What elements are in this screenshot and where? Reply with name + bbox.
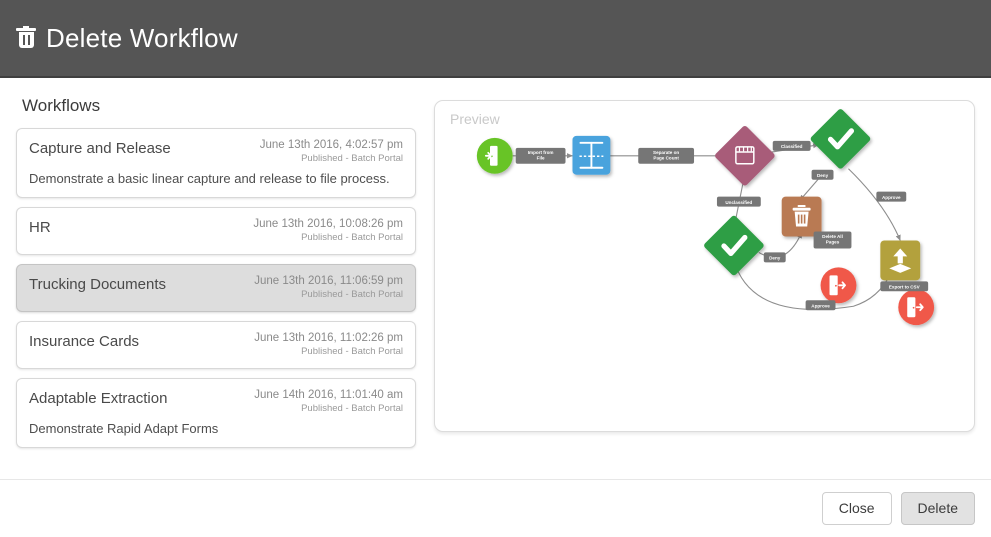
svg-text:Unclassified: Unclassified (725, 200, 752, 205)
edge-label-import-from-file: Import fromFile (516, 148, 566, 164)
workflow-date: June 13th 2016, 11:02:26 pm (254, 331, 403, 345)
svg-text:Classified: Classified (781, 144, 803, 149)
edge-label-deny-2: Deny (764, 252, 786, 262)
list-item-row: Insurance Cards June 13th 2016, 11:02:26… (29, 331, 403, 358)
workflow-meta: June 13th 2016, 11:06:59 pm Published - … (244, 274, 403, 301)
workflow-diagram[interactable]: Import fromFile Separate onPage Count Cl… (435, 101, 974, 432)
workflow-date: June 13th 2016, 4:02:57 pm (260, 138, 403, 152)
svg-text:Export to CSV: Export to CSV (889, 285, 921, 290)
dialog-body: Workflows Capture and Release June 13th … (0, 78, 991, 479)
status-badge: Published - Batch Portal (253, 231, 403, 244)
workflow-date: June 14th 2016, 11:01:40 am (254, 388, 403, 402)
status-badge: Published - Batch Portal (254, 345, 403, 358)
workflows-heading: Workflows (22, 96, 416, 116)
edge-label-delete-all-pages: Delete AllPages (814, 232, 852, 249)
node-verify-unclassified[interactable] (703, 214, 765, 276)
list-item[interactable]: Insurance Cards June 13th 2016, 11:02:26… (16, 321, 416, 369)
node-classifier[interactable] (714, 125, 776, 187)
node-export-to-csv[interactable] (880, 240, 920, 280)
edge-label-approve-1: Approve (876, 192, 906, 202)
workflows-panel: Workflows Capture and Release June 13th … (16, 94, 416, 479)
list-item[interactable]: Adaptable Extraction June 14th 2016, 11:… (16, 378, 416, 448)
status-badge: Published - Batch Portal (260, 152, 403, 165)
node-page-separator[interactable] (572, 136, 610, 175)
edge-label-classified: Classified (773, 141, 811, 151)
dialog-header: Delete Workflow (0, 0, 991, 78)
workflow-name: Adaptable Extraction (29, 388, 167, 408)
svg-text:Approve: Approve (811, 303, 830, 308)
workflow-meta: June 13th 2016, 10:08:26 pm Published - … (243, 217, 403, 244)
page-title: Delete Workflow (16, 23, 238, 54)
workflow-description: Demonstrate Rapid Adapt Forms (29, 421, 403, 437)
status-badge: Published - Batch Portal (254, 288, 403, 301)
svg-text:Approve: Approve (882, 195, 901, 200)
workflow-name: Trucking Documents (29, 274, 166, 294)
workflow-list: Capture and Release June 13th 2016, 4:02… (16, 128, 416, 448)
workflow-name: HR (29, 217, 51, 237)
list-item[interactable]: Capture and Release June 13th 2016, 4:02… (16, 128, 416, 198)
svg-text:Separate onPage Count: Separate onPage Count (653, 150, 679, 160)
list-item-row: HR June 13th 2016, 10:08:26 pm Published… (29, 217, 403, 244)
workflow-name: Capture and Release (29, 138, 171, 158)
edge-label-unclassified: Unclassified (717, 197, 761, 207)
node-verify-classified[interactable] (809, 108, 871, 170)
list-item-row: Trucking Documents June 13th 2016, 11:06… (29, 274, 403, 301)
delete-button[interactable]: Delete (901, 492, 975, 525)
node-delete-all-pages[interactable] (782, 197, 822, 237)
workflow-meta: June 14th 2016, 11:01:40 am Published - … (244, 388, 403, 415)
svg-text:Deny: Deny (769, 256, 781, 261)
edge-label-deny-1: Deny (812, 170, 834, 180)
workflow-meta: June 13th 2016, 11:02:26 pm Published - … (244, 331, 403, 358)
edge-label-approve-2: Approve (806, 300, 836, 310)
workflow-meta: June 13th 2016, 4:02:57 pm Published - B… (250, 138, 403, 165)
list-item-row: Capture and Release June 13th 2016, 4:02… (29, 138, 403, 165)
edge-label-export-to-csv: Export to CSV (880, 281, 928, 291)
dialog-footer: Close Delete (0, 479, 991, 537)
preview-panel-wrap: Preview (434, 94, 975, 479)
edge-label-separate-on-page-count: Separate onPage Count (638, 148, 694, 164)
svg-text:Deny: Deny (817, 173, 829, 178)
workflow-description: Demonstrate a basic linear capture and r… (29, 171, 403, 187)
workflow-date: June 13th 2016, 11:06:59 pm (254, 274, 403, 288)
node-export-exit-2[interactable] (898, 289, 934, 325)
list-item[interactable]: HR June 13th 2016, 10:08:26 pm Published… (16, 207, 416, 255)
preview-panel[interactable]: Preview (434, 100, 975, 432)
node-import-from-file[interactable] (477, 138, 513, 174)
list-item-row: Adaptable Extraction June 14th 2016, 11:… (29, 388, 403, 415)
status-badge: Published - Batch Portal (254, 402, 403, 415)
workflow-name: Insurance Cards (29, 331, 139, 351)
close-button[interactable]: Close (822, 492, 892, 525)
edge-verify1-exportcsv (848, 169, 900, 241)
workflow-date: June 13th 2016, 10:08:26 pm (253, 217, 403, 231)
trash-icon (16, 26, 36, 50)
dialog-title-text: Delete Workflow (46, 23, 238, 54)
list-item[interactable]: Trucking Documents June 13th 2016, 11:06… (16, 264, 416, 312)
node-export-exit-1[interactable] (821, 267, 857, 303)
